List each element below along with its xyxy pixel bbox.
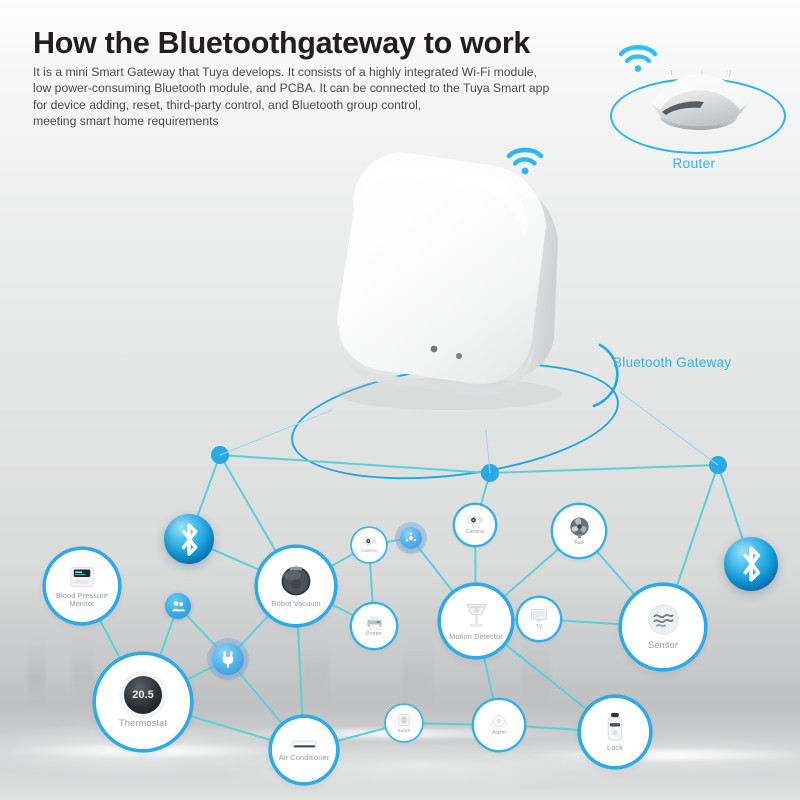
camera-icon-wrap bbox=[362, 536, 377, 548]
device-node-camera-top[interactable]: Camera bbox=[455, 505, 495, 545]
alarm-icon-wrap bbox=[488, 713, 510, 729]
device-node-label: Lock bbox=[607, 744, 623, 752]
device-node-label: Camera bbox=[465, 530, 484, 536]
blood-pressure-monitor-icon bbox=[67, 565, 97, 589]
device-node-label: Air Conditioner bbox=[279, 754, 329, 762]
network-chip-plug[interactable] bbox=[212, 643, 244, 675]
device-node-air-conditioner[interactable]: Air Conditioner bbox=[272, 718, 336, 782]
device-node-lock[interactable]: Lock bbox=[581, 698, 649, 766]
air-conditioner-icon bbox=[291, 739, 318, 751]
motion-detector-icon-wrap bbox=[462, 601, 491, 630]
hub-icon bbox=[405, 532, 417, 544]
alarm-icon bbox=[488, 713, 510, 729]
network-chip-hub[interactable] bbox=[400, 527, 422, 549]
network-junction-dots bbox=[211, 446, 727, 482]
device-node-label: Printer bbox=[366, 632, 382, 638]
network-link bbox=[490, 465, 718, 473]
device-node-tv[interactable]: TV bbox=[518, 598, 560, 640]
device-node-label: Fan bbox=[574, 541, 583, 547]
bluetooth-icon bbox=[175, 521, 203, 558]
robot-vacuum-icon bbox=[280, 565, 312, 597]
lock-icon bbox=[607, 712, 623, 741]
motion-detector-icon bbox=[462, 601, 491, 630]
blood-pressure-monitor-icon-wrap bbox=[67, 565, 97, 589]
people-icon bbox=[171, 599, 186, 614]
device-node-blood-pressure-monitor[interactable]: Blood Pressure Monitor bbox=[46, 550, 118, 622]
thermostat-icon-wrap: 20.5 bbox=[124, 676, 162, 714]
switch-icon-wrap bbox=[396, 712, 412, 728]
bluetooth-icon bbox=[736, 544, 766, 584]
network-chip-people[interactable] bbox=[165, 593, 191, 619]
camera-icon bbox=[466, 514, 484, 528]
gateway-lead bbox=[620, 392, 718, 465]
tv-icon bbox=[530, 608, 548, 623]
air-conditioner-icon-wrap bbox=[291, 739, 318, 751]
device-node-motion-detector[interactable]: Motion Detector bbox=[441, 586, 511, 656]
device-node-camera-left[interactable]: Camera bbox=[352, 528, 386, 562]
switch-icon bbox=[396, 712, 412, 728]
infographic-canvas: How the Bluetoothgateway to work It is a… bbox=[0, 0, 800, 800]
fan-icon-wrap bbox=[568, 516, 591, 539]
bluetooth-badge[interactable] bbox=[164, 514, 214, 564]
device-node-label: Sensor bbox=[648, 641, 678, 651]
device-node-label: Camera bbox=[361, 549, 377, 553]
device-node-label: TV bbox=[536, 625, 543, 631]
device-node-switch[interactable]: Switch bbox=[386, 705, 422, 741]
fan-icon bbox=[568, 516, 591, 539]
plug-icon bbox=[219, 650, 237, 668]
lock-icon-wrap bbox=[607, 712, 623, 741]
device-node-printer[interactable]: Printer bbox=[352, 604, 396, 648]
device-node-fan[interactable]: Fan bbox=[553, 505, 605, 557]
gateway-lead bbox=[220, 410, 332, 455]
camera-icon-wrap bbox=[466, 514, 484, 528]
sensor-waves-icon bbox=[647, 603, 680, 636]
network-link bbox=[220, 455, 490, 473]
device-node-label: Robot Vacuum bbox=[271, 600, 321, 608]
device-node-alarm[interactable]: Alarm bbox=[474, 700, 524, 750]
bluetooth-badge[interactable] bbox=[724, 537, 778, 591]
robot-vacuum-icon-wrap bbox=[280, 565, 312, 597]
camera-icon bbox=[362, 536, 377, 548]
device-node-label: Blood Pressure Monitor bbox=[46, 592, 118, 608]
printer-icon-wrap bbox=[365, 614, 384, 630]
device-node-label: Switch bbox=[398, 729, 411, 733]
thermostat-reading: 20.5 bbox=[132, 689, 153, 701]
printer-icon bbox=[365, 614, 384, 630]
device-node-thermostat[interactable]: 20.5Thermostat bbox=[96, 655, 190, 749]
device-node-label: Motion Detector bbox=[449, 633, 503, 641]
tv-icon-wrap bbox=[530, 608, 548, 623]
device-node-robot-vacuum[interactable]: Robot Vacuum bbox=[258, 548, 334, 624]
device-node-label: Thermostat bbox=[119, 719, 167, 729]
device-node-label: Alarm bbox=[492, 731, 506, 737]
sensor-waves-icon-wrap bbox=[647, 603, 680, 636]
device-node-sensor[interactable]: Sensor bbox=[622, 586, 704, 668]
thermostat-icon: 20.5 bbox=[124, 676, 162, 714]
